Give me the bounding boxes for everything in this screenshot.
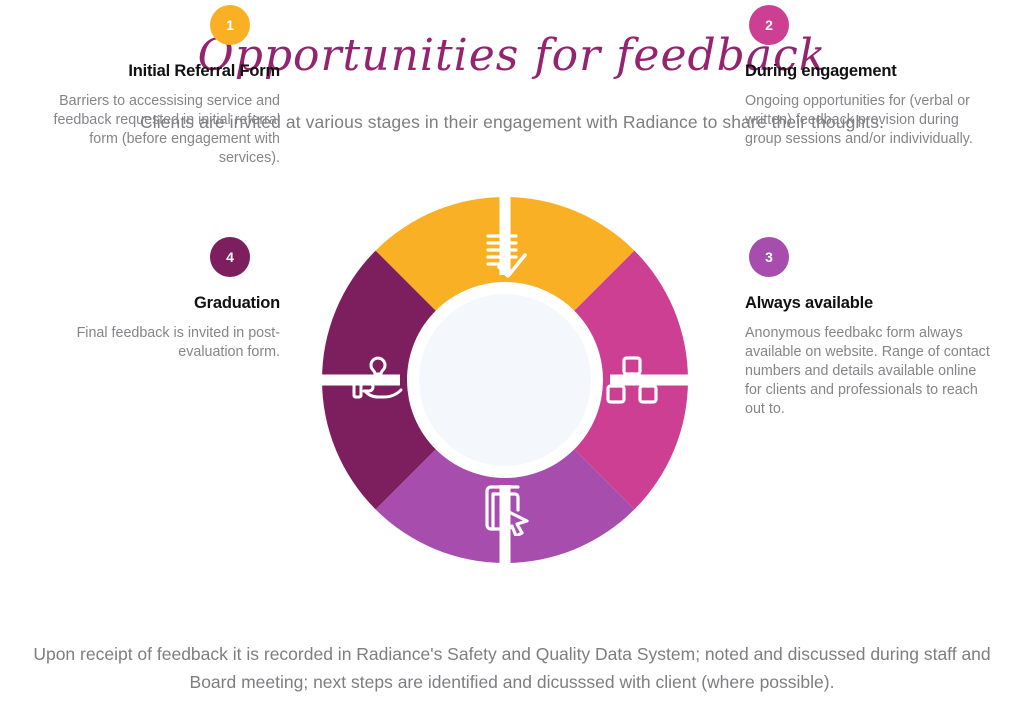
step-badge-3[interactable]: 3: [749, 237, 789, 277]
step-badge-1[interactable]: 1: [210, 5, 250, 45]
step-body-1: Barriers to accessising service and feed…: [35, 92, 280, 168]
step-title-3: Always available: [745, 294, 990, 313]
step-title-1: Initial Referral Form: [35, 62, 280, 81]
feedback-cycle-donut-chart: [318, 193, 692, 567]
step-badge-4[interactable]: 4: [210, 237, 250, 277]
donut-svg: [318, 193, 692, 567]
step-title-4: Graduation: [35, 294, 280, 313]
step-body-2: Ongoing opportunities for (verbal or wri…: [745, 92, 990, 149]
step-body-3: Anonymous feedbakc form always available…: [745, 324, 990, 419]
step-body-4: Final feedback is invited in post-evalua…: [35, 324, 280, 362]
footer-note: Upon receipt of feedback it is recorded …: [12, 640, 1012, 696]
donut-hub: [419, 294, 591, 466]
step-title-2: During engagement: [745, 62, 990, 81]
step-badge-2[interactable]: 2: [749, 5, 789, 45]
